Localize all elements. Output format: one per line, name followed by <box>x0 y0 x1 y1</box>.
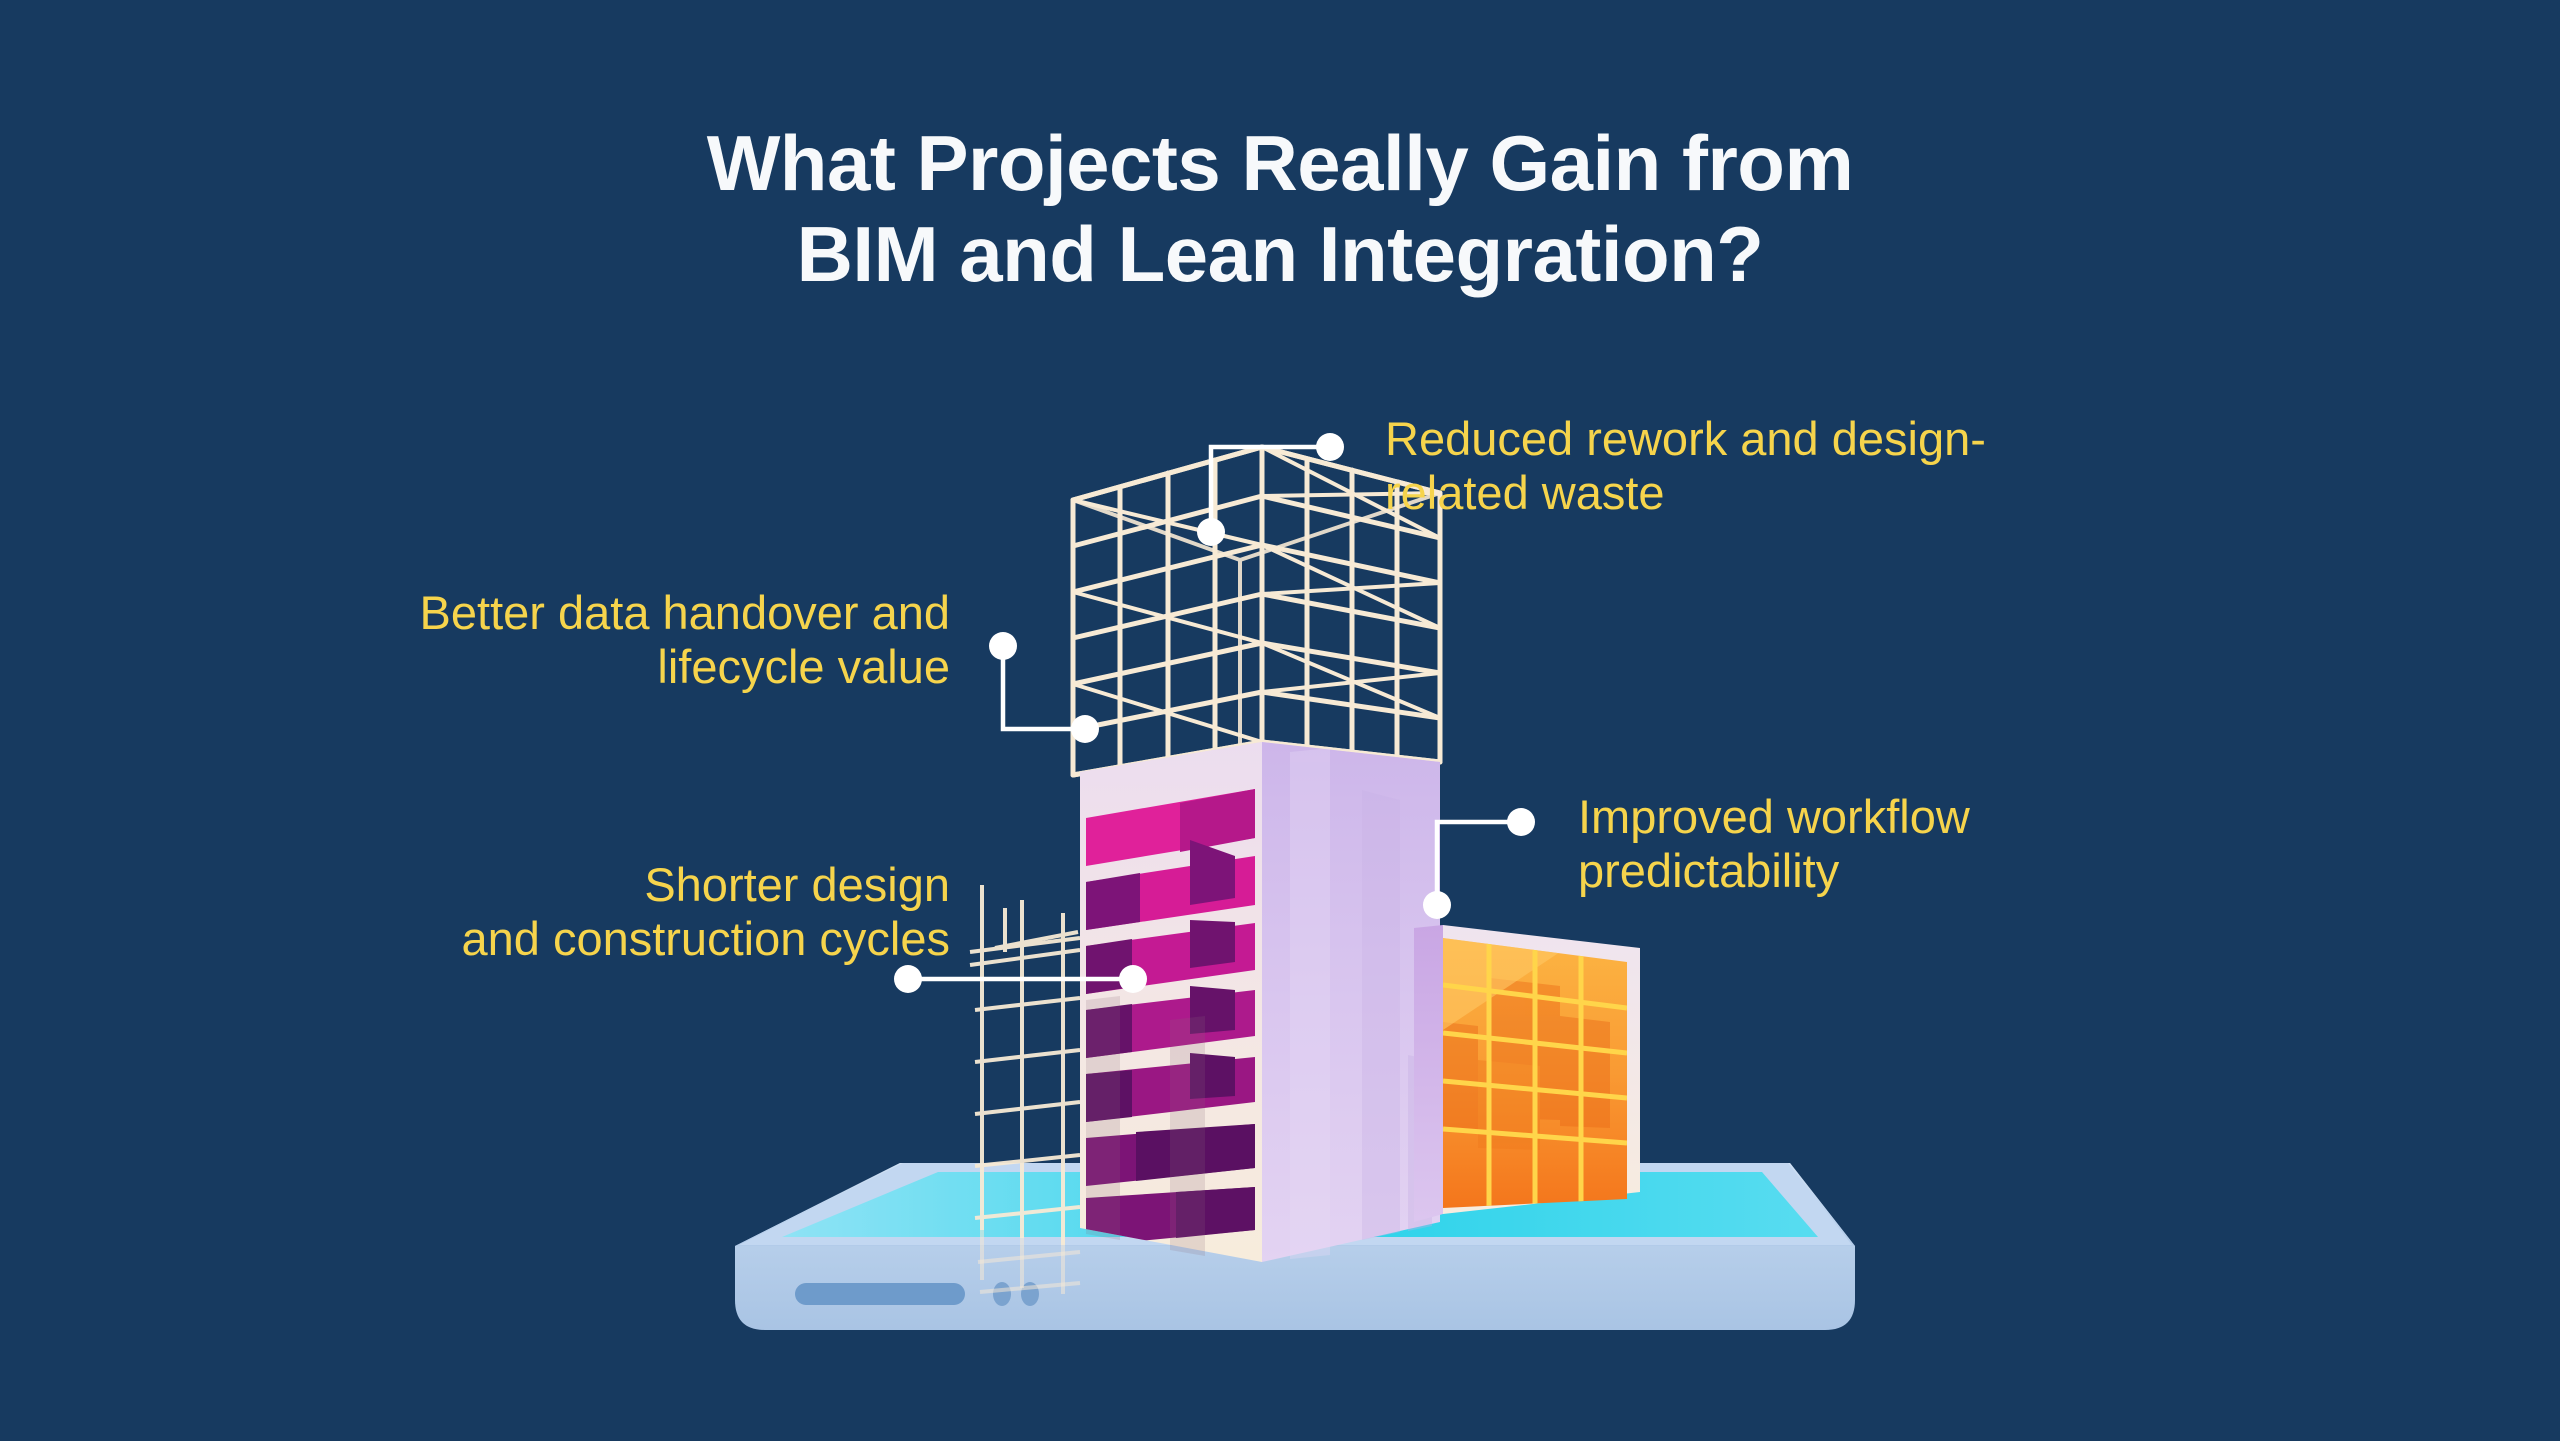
orange-building-side <box>1414 925 1443 1222</box>
tablet-dot-1 <box>993 1282 1011 1306</box>
page-title: What Projects Really Gain from BIM and L… <box>0 118 2560 301</box>
callout-label-reduced-rework: Reduced rework and design- related waste <box>1385 412 2145 520</box>
marker-better-data-handover-end <box>989 632 1017 660</box>
marker-shorter-cycles-end <box>894 965 922 993</box>
main-tower <box>1080 742 1440 1262</box>
marker-reduced-rework-anchor <box>1197 518 1225 546</box>
marker-shorter-cycles-anchor <box>1119 965 1147 993</box>
connector-improved-workflow <box>1437 822 1521 905</box>
callout-label-better-data-handover: Better data handover and lifecycle value <box>250 586 950 694</box>
tablet-speaker-bar <box>795 1283 965 1305</box>
marker-better-data-handover-anchor <box>1071 715 1099 743</box>
orange-building <box>1414 925 1640 1222</box>
marker-reduced-rework-end <box>1316 433 1344 461</box>
callout-label-improved-workflow: Improved workflow predictability <box>1578 790 2198 898</box>
infographic-canvas: What Projects Really Gain from BIM and L… <box>0 0 2560 1441</box>
marker-improved-workflow-anchor <box>1423 891 1451 919</box>
marker-improved-workflow-end <box>1507 808 1535 836</box>
callout-label-shorter-cycles: Shorter design and construction cycles <box>250 858 950 966</box>
